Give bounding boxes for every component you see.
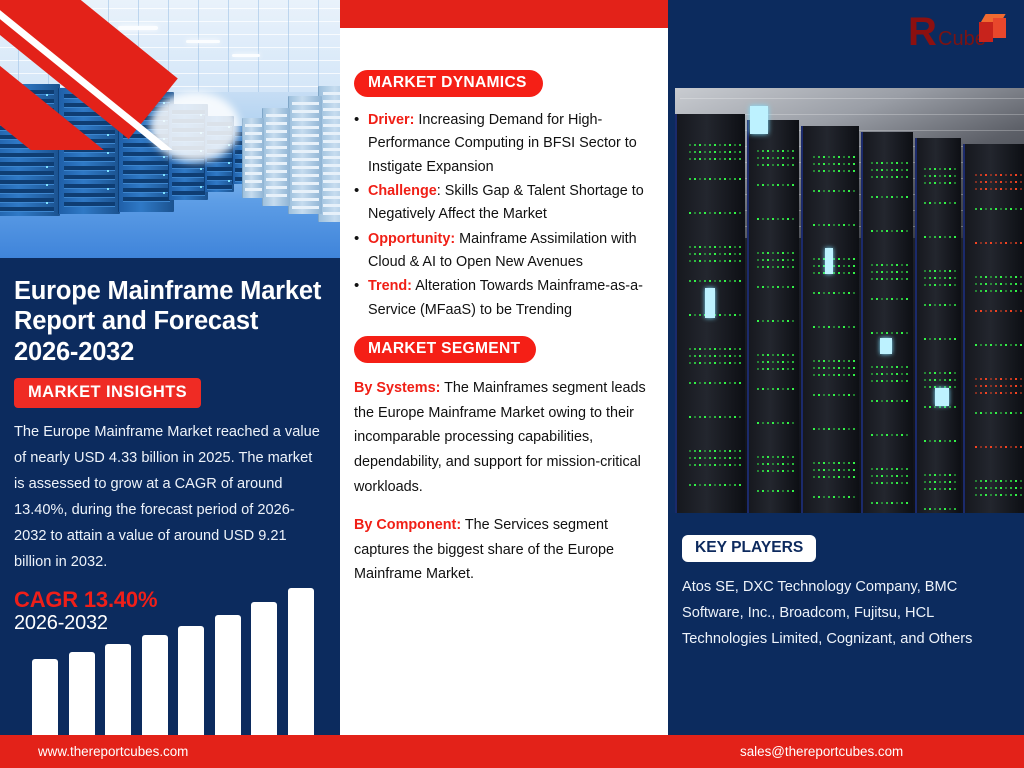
segment-keyword: By Systems: xyxy=(354,380,440,396)
market-segment-block: MARKET SEGMENT By Systems: The Mainframe… xyxy=(354,336,656,587)
footer-email[interactable]: sales@thereportcubes.com xyxy=(740,744,903,759)
dynamics-keyword: Driver: xyxy=(368,112,414,128)
brand-logo: Я Cube xyxy=(908,14,1008,56)
market-segment-badge: MARKET SEGMENT xyxy=(354,336,536,363)
status-display-panel xyxy=(935,388,949,406)
market-dynamics-list: Driver: Increasing Demand for High-Perfo… xyxy=(354,109,656,322)
red-corner-ribbon xyxy=(0,0,220,150)
chart-bar xyxy=(251,602,277,735)
server-rack xyxy=(262,108,290,206)
server-rack xyxy=(747,120,799,513)
dynamics-keyword: Trend: xyxy=(368,278,412,294)
market-dynamics-item: Driver: Increasing Demand for High-Perfo… xyxy=(354,109,656,179)
segment-keyword: By Component: xyxy=(354,517,461,533)
status-display-panel xyxy=(705,288,715,318)
left-hero-image xyxy=(0,0,340,258)
status-display-panel xyxy=(825,248,833,274)
ceiling-lamp xyxy=(232,54,260,57)
cube-icon xyxy=(978,14,1008,44)
chart-bar xyxy=(32,659,58,735)
dynamics-keyword: Challenge xyxy=(368,183,437,199)
footer-bar: www.thereportcubes.com sales@thereportcu… xyxy=(0,735,1024,768)
server-rack xyxy=(242,118,264,198)
chart-bar xyxy=(142,635,168,735)
right-column: Я Cube KEY PLAYERS Atos SE, DXC Technolo… xyxy=(668,0,1024,735)
left-column: Europe Mainframe Market Report and Forec… xyxy=(0,0,340,735)
market-dynamics-item: Trend: Alteration Towards Mainframe-as-a… xyxy=(354,275,656,322)
status-display-panel xyxy=(880,338,892,354)
market-dynamics-item: Challenge: Skills Gap & Talent Shortage … xyxy=(354,180,656,227)
market-dynamics-item: Opportunity: Mainframe Assimilation with… xyxy=(354,228,656,275)
footer-website[interactable]: www.thereportcubes.com xyxy=(38,744,188,759)
server-rack xyxy=(861,132,913,513)
market-segment-item: By Component: The Services segment captu… xyxy=(354,513,656,587)
logo-reversed-r-icon: Я xyxy=(908,12,937,52)
server-rack xyxy=(801,126,859,513)
server-rack xyxy=(915,138,961,513)
market-dynamics-badge: MARKET DYNAMICS xyxy=(354,70,543,97)
page-title: Europe Mainframe Market Report and Forec… xyxy=(14,276,326,367)
key-players-text: Atos SE, DXC Technology Company, BMC Sof… xyxy=(682,575,1006,653)
status-display-panel xyxy=(750,106,768,134)
center-top-red-bar xyxy=(340,0,668,28)
center-content: MARKET DYNAMICS Driver: Increasing Deman… xyxy=(340,28,668,587)
segment-text: The Mainframes segment leads the Europe … xyxy=(354,380,646,495)
server-rack xyxy=(288,96,322,214)
chart-bar xyxy=(215,615,241,735)
right-hero-image xyxy=(675,88,1024,513)
key-players-section: KEY PLAYERS Atos SE, DXC Technology Comp… xyxy=(668,513,1024,735)
dynamics-keyword: Opportunity: xyxy=(368,231,455,247)
chart-bar xyxy=(288,588,314,735)
market-insights-badge: MARKET INSIGHTS xyxy=(14,378,201,408)
server-rack xyxy=(963,144,1024,513)
center-column: MARKET DYNAMICS Driver: Increasing Deman… xyxy=(340,0,668,735)
market-segment-item: By Systems: The Mainframes segment leads… xyxy=(354,376,656,500)
chart-bar xyxy=(105,644,131,735)
chart-bar xyxy=(69,652,95,735)
market-insights-text: The Europe Mainframe Market reached a va… xyxy=(14,420,326,576)
chart-bar xyxy=(178,626,204,735)
key-players-badge: KEY PLAYERS xyxy=(682,535,816,562)
forecast-bar-chart xyxy=(0,585,340,735)
infographic-page: Europe Mainframe Market Report and Forec… xyxy=(0,0,1024,768)
